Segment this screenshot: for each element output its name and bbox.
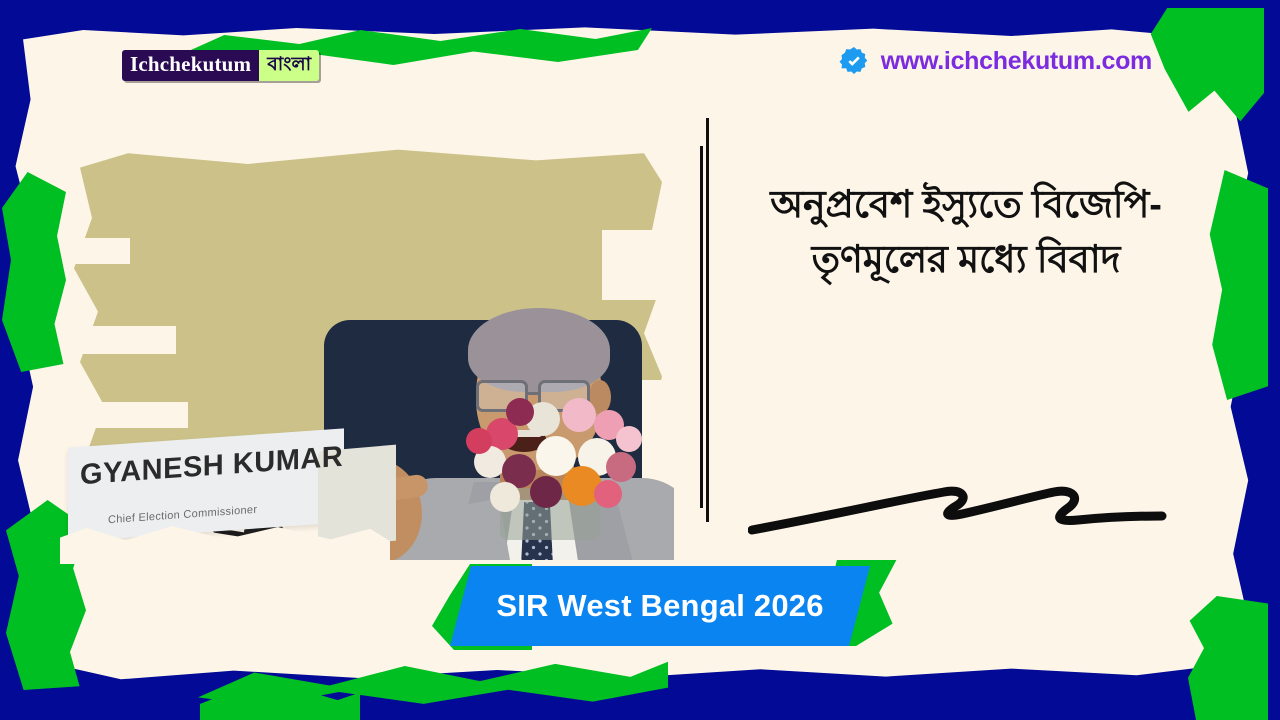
brush-notch [68, 326, 176, 354]
banner-label: SIR West Bengal 2026 [450, 566, 870, 646]
brush-notch [68, 238, 130, 264]
page-title: অনুপ্রবেশ ইস্যুতে বিজেপি-তৃণমূলের মধ্যে … [730, 178, 1202, 289]
brush-notch [68, 402, 188, 428]
bottom-banner[interactable]: SIR West Bengal 2026 [404, 560, 924, 652]
flower [562, 398, 596, 432]
flower [606, 452, 636, 482]
flower [616, 426, 642, 452]
thumbnail-canvas: Ichchekutum বাংলা www.ichchekutum.com [0, 0, 1280, 720]
flower [530, 476, 562, 508]
green-accent-bottom-right [1188, 596, 1268, 720]
flower [506, 398, 534, 426]
swoosh-icon [748, 466, 1178, 538]
vertical-divider-second [700, 146, 703, 508]
brand-logo-english: Ichchekutum [122, 50, 259, 81]
flower-bouquet [466, 392, 642, 540]
brush-notch [602, 230, 674, 300]
website-url: www.ichchekutum.com [881, 47, 1152, 76]
flower [594, 480, 622, 508]
brand-logo-bengali: বাংলা [259, 50, 319, 81]
brand-logo[interactable]: Ichchekutum বাংলা [122, 50, 319, 81]
verified-badge-icon [839, 46, 869, 76]
vertical-divider [706, 118, 709, 522]
flower [466, 428, 492, 454]
website-row[interactable]: www.ichchekutum.com [839, 46, 1152, 76]
green-accent-left [2, 172, 66, 372]
flower [490, 482, 520, 512]
